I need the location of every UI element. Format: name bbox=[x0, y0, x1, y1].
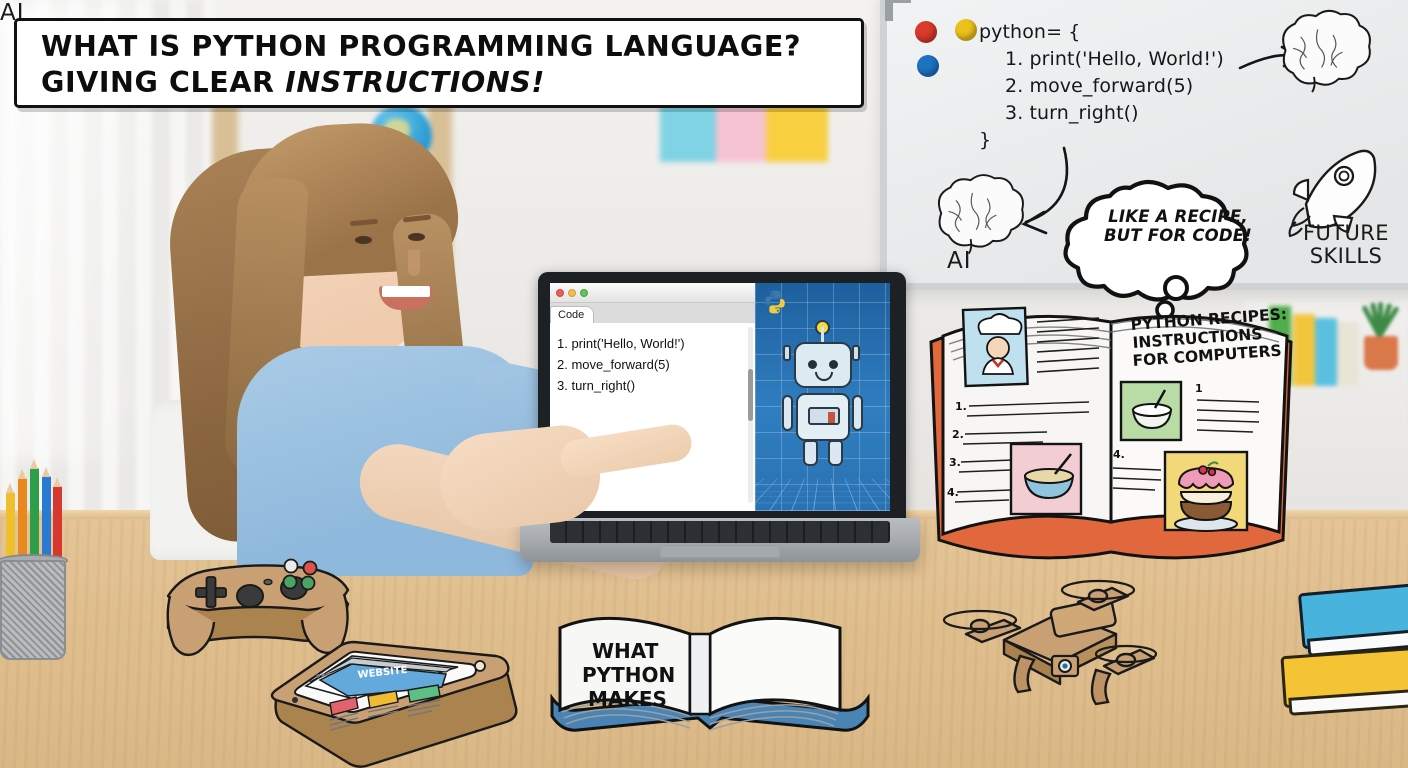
wb-code-line-3: 3. turn_right() bbox=[979, 100, 1309, 127]
potted-plant bbox=[1355, 300, 1405, 370]
python-logo-icon bbox=[762, 289, 788, 315]
bottom-book-line-2: PYTHON bbox=[582, 663, 675, 687]
title-banner: WHAT IS PYTHON PROGRAMMING LANGUAGE? GIV… bbox=[14, 18, 864, 108]
laptop-screen[interactable]: Code 1. print('Hello, World!') 2. move_f… bbox=[550, 283, 890, 511]
recipe-left-num-1: 1. bbox=[955, 400, 967, 413]
drone bbox=[928, 578, 1158, 708]
laptop-keyboard[interactable] bbox=[550, 521, 890, 543]
recipe-left-num-3: 3. bbox=[949, 456, 961, 469]
title-line-2: GIVING CLEAR INSTRUCTIONS! bbox=[41, 65, 861, 101]
poster-scene: python= { 1. print('Hello, World!') 2. m… bbox=[0, 0, 1408, 768]
maximize-icon[interactable] bbox=[580, 289, 588, 297]
pencil-cup bbox=[0, 500, 70, 660]
recipe-left-num-2: 2. bbox=[952, 428, 964, 441]
wb-code-line-4: } bbox=[979, 127, 1309, 154]
future-skills-line-2: SKILLS bbox=[1286, 245, 1406, 268]
bottom-book-line-1: WHAT bbox=[592, 639, 659, 663]
thought-bubble-text-wrap: LIKE A RECIPE, BUT FOR CODE! bbox=[1092, 186, 1264, 272]
laptop-base bbox=[520, 518, 920, 562]
sticky-notes bbox=[660, 100, 830, 162]
recipe-book: 1. 2. 3. 4. PYTHON RECIPES: INSTRUCTIONS bbox=[925, 286, 1305, 576]
thought-line-2: BUT FOR CODE! bbox=[1104, 227, 1252, 246]
laptop-trackpad[interactable] bbox=[660, 545, 780, 558]
future-skills-line-1: FUTURE bbox=[1286, 222, 1406, 245]
recipe-right-num-4: 4. bbox=[1113, 448, 1125, 461]
editor-code-line-1: 2. move_forward(5) bbox=[557, 354, 755, 375]
robot-preview-pane bbox=[755, 283, 890, 511]
editor-code-line-0: 1. print('Hello, World!') bbox=[557, 333, 755, 354]
robot-character bbox=[780, 327, 866, 467]
bottom-book-line-3: MAKES bbox=[588, 687, 667, 711]
editor-titlebar bbox=[550, 283, 755, 303]
wb-code-line-1: 1. print('Hello, World!') bbox=[979, 46, 1309, 73]
thought-line-1: LIKE A RECIPE, bbox=[1108, 208, 1248, 227]
editor-code-lines: 1. print('Hello, World!') 2. move_forwar… bbox=[550, 323, 755, 396]
red-magnet bbox=[915, 21, 937, 43]
wb-code-line-0: python= { bbox=[979, 19, 1309, 46]
title-line-1: WHAT IS PYTHON PROGRAMMING LANGUAGE? bbox=[41, 29, 861, 65]
wb-code-line-2: 2. move_forward(5) bbox=[979, 73, 1309, 100]
whiteboard-corner-bracket bbox=[885, 0, 911, 21]
minimize-icon[interactable] bbox=[568, 289, 576, 297]
editor-code-line-2: 3. turn_right() bbox=[557, 375, 755, 396]
title-line-2-emphasis: CLEAR bbox=[169, 66, 275, 99]
future-skills-label: FUTURE SKILLS bbox=[1286, 222, 1406, 267]
blue-magnet bbox=[917, 55, 939, 77]
title-line-2-post: INSTRUCTIONS! bbox=[275, 66, 545, 99]
recipe-right-num-1: 1 bbox=[1195, 382, 1203, 395]
tab-code[interactable]: Code bbox=[550, 306, 594, 323]
title-line-2-pre: GIVING bbox=[41, 66, 169, 99]
tablet-website: WEBSITE bbox=[262, 628, 522, 768]
editor-scrollbar[interactable] bbox=[748, 327, 753, 503]
close-icon[interactable] bbox=[556, 289, 564, 297]
whiteboard-code-block: python= { 1. print('Hello, World!') 2. m… bbox=[979, 19, 1309, 154]
yellow-magnet bbox=[955, 19, 977, 41]
bottom-open-book: WHAT PYTHON MAKES bbox=[540, 600, 880, 750]
ai-label-bottom: AI bbox=[947, 248, 972, 274]
editor-tabbar: Code bbox=[550, 303, 755, 323]
